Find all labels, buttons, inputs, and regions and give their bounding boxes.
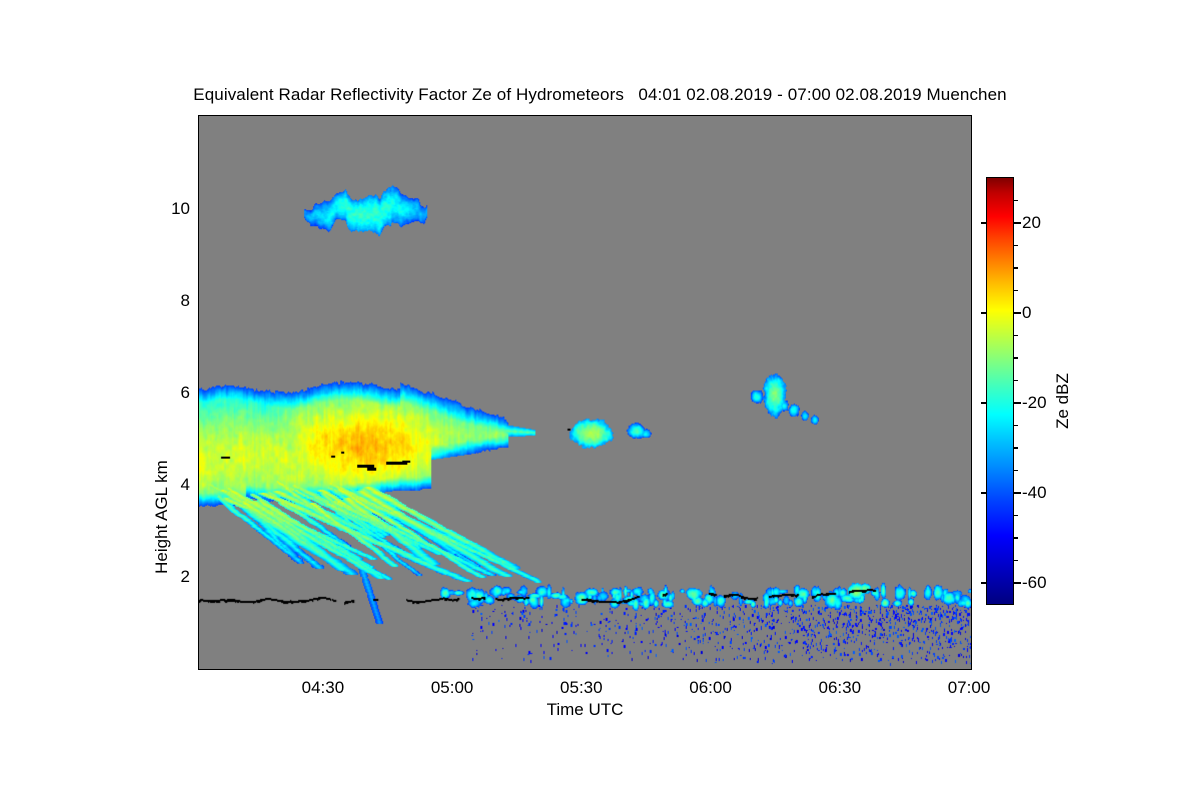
colorbar-tick-minor [1014,290,1018,292]
y-tick-minor [198,415,199,417]
x-tick-minor [485,669,487,670]
x-tick-minor-top [905,115,907,116]
x-tick-minor-top [227,115,229,116]
x-tick-label: 04:30 [302,678,345,698]
y-tick-minor-right [971,599,972,601]
x-tick-minor-top [485,115,487,116]
page-title: Equivalent Radar Reflectivity Factor Ze … [0,85,1200,105]
colorbar-title: Ze dBZ [1053,373,1073,429]
x-tick-minor [679,669,681,670]
colorbar-tick-minor [1014,335,1018,337]
x-tick-major [582,669,584,670]
x-tick-major [712,669,714,670]
x-tick-minor [550,669,552,670]
y-tick-label: 2 [181,567,190,587]
x-tick-minor [905,669,907,670]
x-tick-minor [938,669,940,670]
y-tick-major-right [971,300,972,302]
colorbar-tick-minor [1014,560,1018,562]
colorbar-tick-label: -20 [1022,393,1047,413]
x-tick-minor-top [776,115,778,116]
x-tick-major-top [712,115,714,116]
y-tick-minor-right [971,162,972,164]
colorbar-tick-minor [1014,425,1018,427]
colorbar-tick-left [981,312,986,314]
x-axis-title-text: Time UTC [547,700,624,719]
y-tick-label: 6 [181,383,190,403]
x-tick-minor-top [518,115,520,116]
x-tick-major-top [324,115,326,116]
x-tick-minor [744,669,746,670]
x-tick-minor [356,669,358,670]
x-tick-label: 05:00 [431,678,474,698]
y-tick-minor [198,346,199,348]
x-tick-minor [259,669,261,670]
colorbar-tick-minor [1014,537,1018,539]
x-tick-minor-top [808,115,810,116]
y-tick-major-right [971,392,972,394]
x-tick-minor-top [421,115,423,116]
y-tick-minor-right [971,415,972,417]
x-tick-minor [421,669,423,670]
colorbar-tick [1014,402,1021,404]
y-tick-minor-right [971,622,972,624]
colorbar-tick-minor [1014,515,1018,517]
x-tick-label: 05:30 [560,678,603,698]
y-tick-label: 10 [171,199,190,219]
x-tick-label: 06:00 [689,678,732,698]
y-tick-minor [198,254,199,256]
colorbar-tick-minor [1014,267,1018,269]
plot-area[interactable] [198,115,972,670]
y-tick-label: 4 [181,475,190,495]
x-tick-major-top [453,115,455,116]
x-tick-minor-top [647,115,649,116]
x-tick-minor-top [356,115,358,116]
x-tick-label: 07:00 [948,678,991,698]
y-tick-minor-right [971,254,972,256]
x-tick-major-top [841,115,843,116]
colorbar-tick-label: -60 [1022,573,1047,593]
x-tick-minor [647,669,649,670]
y-tick-minor-right [971,438,972,440]
y-tick-minor [198,323,199,325]
y-tick-minor [198,139,199,141]
y-tick-minor [198,185,199,187]
y-tick-minor-right [971,461,972,463]
colorbar-tick-minor [1014,245,1018,247]
y-tick-major-right [971,484,972,486]
y-tick-minor-right [971,277,972,279]
x-tick-minor [227,669,229,670]
y-tick-minor [198,530,199,532]
x-tick-minor [615,669,617,670]
y-tick-minor-right [971,139,972,141]
colorbar[interactable]: 200-20-40-60 [986,177,1014,605]
y-tick-major [198,484,199,486]
x-tick-minor-top [938,115,940,116]
x-tick-minor-top [292,115,294,116]
y-tick-minor [198,622,199,624]
radar-figure: Equivalent Radar Reflectivity Factor Ze … [0,0,1200,800]
x-tick-major [970,669,972,670]
y-tick-minor [198,369,199,371]
y-tick-minor [198,553,199,555]
x-tick-minor-top [550,115,552,116]
colorbar-tick [1014,582,1021,584]
x-tick-major [841,669,843,670]
x-tick-minor-top [744,115,746,116]
radar-heatmap-canvas [199,116,971,669]
y-tick-major-right [971,576,972,578]
y-tick-minor [198,231,199,233]
x-tick-minor-top [259,115,261,116]
y-tick-minor-right [971,231,972,233]
x-tick-major-top [582,115,584,116]
colorbar-tick-minor [1014,357,1018,359]
y-tick-minor [198,438,199,440]
x-tick-minor [389,669,391,670]
y-tick-minor-right [971,369,972,371]
y-tick-minor-right [971,185,972,187]
colorbar-gradient [986,177,1014,605]
colorbar-tick [1014,492,1021,494]
x-tick-label: 06:30 [818,678,861,698]
colorbar-tick-minor [1014,380,1018,382]
colorbar-tick-left [981,402,986,404]
x-tick-minor [518,669,520,670]
colorbar-tick-minor [1014,447,1018,449]
y-tick-minor [198,599,199,601]
y-tick-minor-right [971,323,972,325]
y-tick-minor [198,461,199,463]
y-tick-major [198,208,199,210]
y-tick-minor [198,507,199,509]
x-tick-minor-top [679,115,681,116]
y-tick-minor [198,645,199,647]
y-tick-major [198,392,199,394]
x-axis-tick-labels: 04:3005:0005:3006:0006:3007:00 [198,678,972,702]
y-tick-label: 8 [181,291,190,311]
colorbar-tick-minor [1014,200,1018,202]
x-tick-minor [776,669,778,670]
y-tick-minor-right [971,553,972,555]
y-tick-minor-right [971,507,972,509]
colorbar-tick-left [981,222,986,224]
colorbar-tick-label: 20 [1022,213,1041,233]
y-axis-tick-labels: 108642 [160,115,190,670]
x-tick-minor-top [873,115,875,116]
y-tick-minor [198,277,199,279]
colorbar-tick-label: 0 [1022,303,1031,323]
y-tick-minor [198,162,199,164]
x-tick-minor-top [389,115,391,116]
y-tick-major [198,576,199,578]
y-tick-major [198,300,199,302]
x-tick-minor [873,669,875,670]
y-tick-major-right [971,208,972,210]
y-tick-minor-right [971,645,972,647]
x-tick-major-top [970,115,972,116]
colorbar-tick-left [981,582,986,584]
x-tick-minor-top [615,115,617,116]
colorbar-tick [1014,222,1021,224]
x-tick-major [453,669,455,670]
x-axis-title: Time UTC [0,700,1200,720]
colorbar-tick [1014,312,1021,314]
x-tick-major [324,669,326,670]
colorbar-tick-left [981,492,986,494]
x-tick-minor [808,669,810,670]
y-tick-minor-right [971,530,972,532]
y-tick-minor-right [971,346,972,348]
colorbar-tick-label: -40 [1022,483,1047,503]
colorbar-tick-minor [1014,470,1018,472]
x-tick-minor [292,669,294,670]
